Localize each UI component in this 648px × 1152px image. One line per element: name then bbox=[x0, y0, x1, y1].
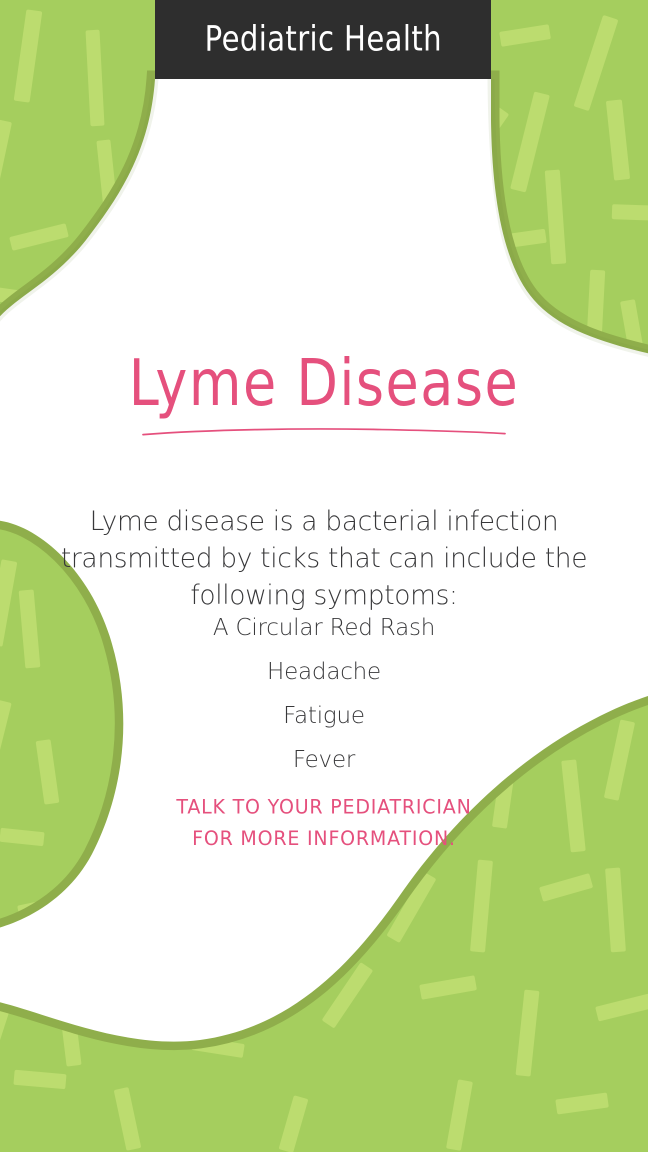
intro-paragraph: Lyme disease is a bacterial infection tr… bbox=[34, 503, 614, 614]
header-banner: Pediatric Health bbox=[155, 0, 491, 79]
list-item: Fatigue bbox=[74, 694, 574, 738]
title-block: Lyme Disease bbox=[0, 352, 648, 436]
underline-flourish-icon bbox=[141, 428, 507, 436]
list-item: A Circular Red Rash bbox=[74, 606, 574, 650]
footnote-line-2: FOR MORE INFORMATION. bbox=[74, 823, 574, 855]
list-item: Fever bbox=[74, 738, 574, 782]
footnote-line-1: TALK TO YOUR PEDIATRICIAN bbox=[74, 792, 574, 824]
poster-canvas: Pediatric Health Lyme Disease Lyme disea… bbox=[0, 0, 648, 1152]
footnote-callout: TALK TO YOUR PEDIATRICIAN FOR MORE INFOR… bbox=[74, 792, 574, 855]
symptom-list: A Circular Red Rash Headache Fatigue Fev… bbox=[74, 606, 574, 782]
banner-title: Pediatric Health bbox=[204, 22, 441, 57]
page-title: Lyme Disease bbox=[129, 352, 519, 416]
list-item: Headache bbox=[74, 650, 574, 694]
